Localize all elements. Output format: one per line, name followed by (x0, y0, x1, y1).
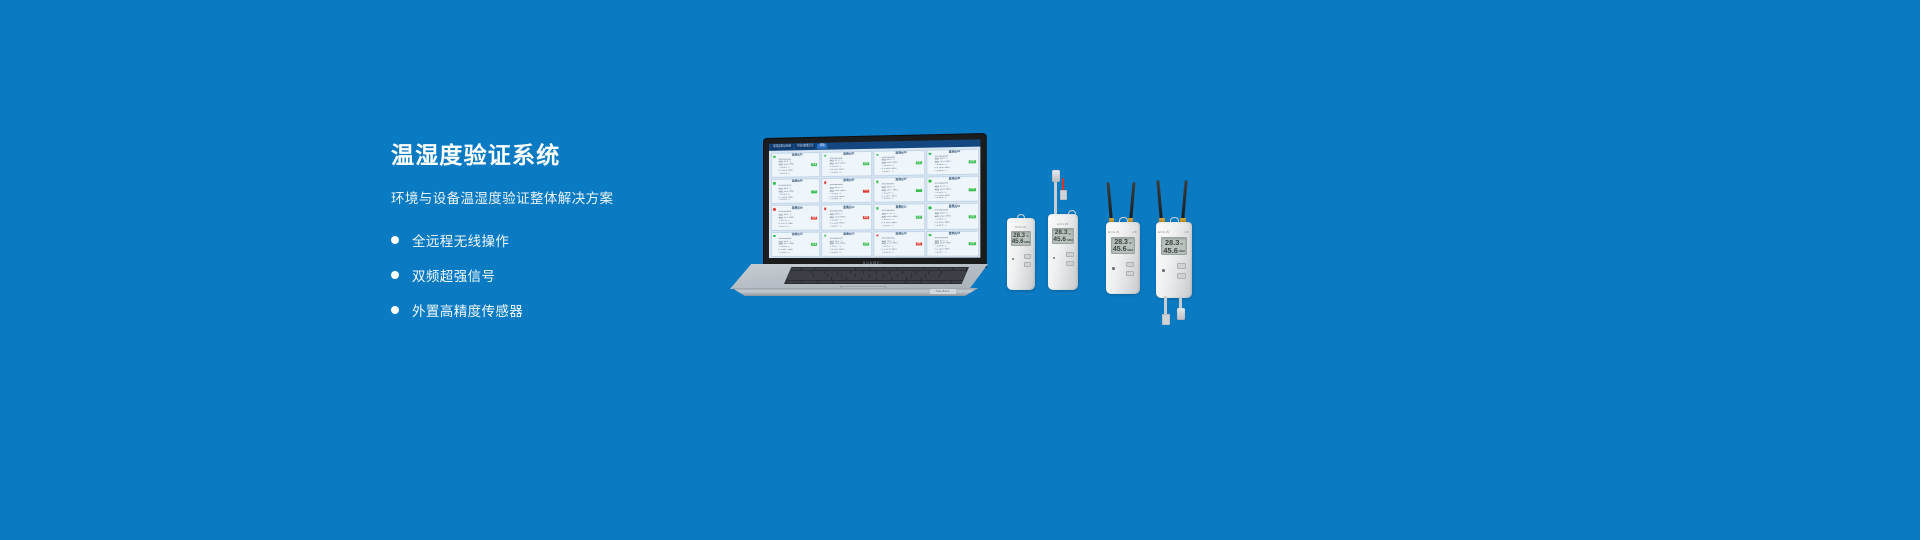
key[interactable] (801, 268, 814, 270)
bullet-dot-icon (391, 236, 399, 244)
table-row[interactable]: 监测点01 SN:2023001 温度 29.8 ℃ 湿度 55.2 %RH正常… (770, 151, 820, 177)
lcd-temperature-unit: ℃ (1068, 234, 1071, 237)
key[interactable] (842, 268, 855, 270)
key[interactable] (815, 268, 828, 270)
device-button-down[interactable] (1177, 273, 1186, 279)
card-field: T 2 24.7 ℃ (933, 252, 975, 255)
lcd-status-label: REC (1162, 254, 1186, 255)
antenna-right-icon (1181, 180, 1188, 222)
table-row[interactable]: 监测点16 SN:2023016 温度 27.1 ℃ 湿度 52.6 %RH正常… (926, 230, 979, 256)
device-wireless-logger-b: ENGIN H8 28.3 ℃ 45.6 %RH REC (1156, 222, 1192, 298)
table-row[interactable]: 监测点13 SN:2023013 温度 29.4 ℃ 湿度 56.7 %RH正常… (770, 231, 820, 257)
key-row (787, 268, 966, 270)
lcd-humidity-value: 45.6 (1113, 246, 1127, 253)
key[interactable] (892, 277, 906, 279)
status-led-icon (1162, 269, 1165, 272)
device-brand-label: ENGIN (1048, 222, 1078, 226)
key[interactable] (939, 268, 952, 270)
table-row[interactable]: 监测点04 SN:2023004 温度 26.4 ℃ 湿度 51.8 %RH正常… (926, 148, 979, 175)
table-row[interactable]: 监测点06 SN:2023006 温度 31.5 ℃ 湿度 58.1 %RH报警… (821, 177, 872, 203)
key-row (787, 281, 966, 283)
lcd-temperature-value: 28.3 (1114, 239, 1128, 246)
laptop-model-label: MateBook (936, 290, 949, 293)
device-lcd-screen: 28.3 ℃ 45.6 %RH REC (1161, 237, 1187, 255)
card-field: T 2 26.1 ℃ (777, 252, 817, 255)
laptop-model-badge: MateBook (930, 289, 956, 294)
status-dot-icon (773, 155, 776, 158)
feature-label: 外置高精度传感器 (412, 300, 523, 320)
key[interactable] (856, 274, 869, 276)
table-row[interactable]: 监测点05 SN:2023005 温度 29.2 ℃ 湿度 56.3 %RH正常… (770, 178, 820, 204)
key[interactable] (851, 271, 863, 273)
status-dot-icon (929, 152, 932, 155)
key[interactable] (847, 277, 861, 279)
key[interactable] (816, 277, 830, 279)
key[interactable] (922, 277, 936, 279)
key[interactable] (921, 281, 935, 283)
lcd-status-label: REC (1053, 243, 1073, 244)
key[interactable] (828, 268, 841, 270)
key[interactable] (916, 271, 928, 273)
key[interactable] (940, 274, 966, 276)
card-field: T 2 25.1 ℃ (828, 171, 869, 175)
device-button-down[interactable] (1024, 262, 1031, 267)
key[interactable] (925, 268, 938, 270)
lcd-temperature-unit: ℃ (1026, 236, 1029, 239)
card-field: T 2 28.2 ℃ (828, 198, 869, 201)
lcd-humidity-unit: %RH (1067, 240, 1073, 243)
lcd-status-label: REC (1012, 245, 1030, 246)
status-dot-icon (773, 208, 776, 211)
lcd-temperature-unit: ℃ (1129, 243, 1132, 246)
device-brand-label: ENGIN (1007, 225, 1035, 229)
status-dot-icon (929, 180, 932, 183)
key[interactable] (812, 271, 824, 273)
monitoring-card-grid: 监测点01 SN:2023001 温度 29.8 ℃ 湿度 55.2 %RH正常… (769, 147, 980, 258)
status-dot-icon (824, 208, 827, 211)
key[interactable] (787, 277, 816, 279)
feature-label: 全远程无线操作 (412, 230, 509, 250)
key[interactable] (898, 274, 911, 276)
card-field: T 2 24.6 ℃ (933, 170, 975, 174)
status-dot-icon (876, 234, 879, 237)
lcd-temperature-row: 28.3 ℃ (1112, 239, 1134, 246)
lcd-humidity-row: 45.6 %RH (1162, 247, 1186, 255)
hero-copy: 温湿度验证系统 环境与设备温湿度验证整体解决方案 全远程无线操作 双频超强信号 … (391, 142, 721, 323)
device-lcd-screen: 28.3 ℃ 45.6 %RH REC (1111, 237, 1135, 254)
laptop-screen: 温湿度验证系统 列表/曲线显示 帮助 监测点01 SN:2023001 温度 2… (769, 139, 980, 258)
key[interactable] (890, 271, 902, 273)
card-field: T 2 25.3 ℃ (880, 225, 921, 228)
spacebar-key[interactable] (833, 281, 905, 283)
page-subtitle: 环境与设备温湿度验证整体解决方案 (391, 187, 721, 207)
key[interactable] (787, 271, 811, 273)
bullet-dot-icon (391, 306, 399, 314)
key[interactable] (884, 274, 897, 276)
table-row[interactable]: 监测点07 SN:2023007 温度 28.8 ℃ 湿度 54.7 %RH正常… (873, 176, 925, 203)
antenna-left-icon (1107, 182, 1113, 222)
status-dot-icon (824, 234, 827, 237)
keyboard[interactable] (784, 267, 969, 284)
device-model-label: H8 (1132, 230, 1137, 234)
key[interactable] (787, 268, 800, 270)
lcd-humidity-unit: %RH (1179, 251, 1185, 254)
key-row (787, 271, 966, 273)
key[interactable] (953, 268, 966, 270)
card-field: T 2 24.8 ℃ (933, 197, 975, 200)
page-title: 温湿度验证系统 (391, 142, 721, 170)
device-brand-label: ENGIN (1108, 230, 1120, 234)
key[interactable] (832, 277, 846, 279)
key-row (787, 277, 966, 279)
card-field: T 2 25.9 ℃ (777, 199, 817, 202)
antenna-left-icon (1156, 180, 1163, 222)
key[interactable] (942, 271, 966, 273)
device-lcd-screen: 28.3 ℃ 45.6 %RH REC (1011, 231, 1031, 246)
device-button-up[interactable] (1024, 254, 1031, 259)
probe-mesh-filter (1060, 190, 1067, 200)
table-row[interactable]: 监测点12 SN:2023012 温度 26.8 ℃ 湿度 51.2 %RH正常… (926, 203, 979, 230)
probe-mesh-filter-left (1162, 314, 1170, 325)
status-dot-icon (773, 235, 776, 238)
device-data-logger-small: ENGIN 28.3 ℃ 45.6 %RH REC (1007, 218, 1035, 290)
table-row[interactable]: 监测点03 SN:2023003 温度 28.1 ℃ 湿度 53.6 %RH正常… (873, 149, 925, 176)
device-model-label: H8 (1184, 230, 1189, 234)
laptop-base: MateBook (716, 264, 994, 299)
list-item: 双频超强信号 (391, 262, 721, 288)
lcd-humidity-unit: %RH (1024, 242, 1030, 245)
key[interactable] (818, 281, 832, 283)
feature-list: 全远程无线操作 双频超强信号 外置高精度传感器 (391, 227, 721, 323)
tab-system[interactable]: 温湿度验证系统 (771, 145, 793, 150)
probe-sensor-tip (1052, 170, 1060, 182)
status-dot-icon (876, 180, 879, 183)
card-field: T 2 24.4 ℃ (933, 224, 975, 227)
key[interactable] (912, 274, 925, 276)
antenna-right-icon (1129, 182, 1135, 222)
table-row[interactable]: 监测点10 SN:2023010 温度 28.9 ℃ 湿度 55.8 %RH报警… (821, 204, 872, 230)
key[interactable] (907, 277, 921, 279)
table-row[interactable]: 监测点15 SN:2023015 温度 30.1 ℃ 湿度 57.9 %RH报警… (873, 231, 925, 257)
status-led-icon (1112, 267, 1115, 270)
key[interactable] (926, 274, 939, 276)
key[interactable] (937, 277, 966, 279)
key[interactable] (787, 274, 813, 276)
device-button-down[interactable] (1126, 271, 1134, 276)
card-field: T 2 26.9 ℃ (880, 252, 921, 255)
laptop-lid: 温湿度验证系统 列表/曲线显示 帮助 监测点01 SN:2023001 温度 2… (764, 134, 986, 267)
card-field: T 2 27.3 ℃ (777, 225, 817, 228)
table-row[interactable]: 监测点14 SN:2023014 温度 28.2 ℃ 湿度 54.3 %RH正常… (821, 231, 872, 257)
tab-list-curve[interactable]: 列表/曲线显示 (795, 144, 815, 149)
key[interactable] (898, 268, 911, 270)
table-row[interactable]: 监测点08 SN:2023008 温度 27.3 ℃ 湿度 52.9 %RH正常… (926, 176, 979, 203)
key[interactable] (929, 271, 941, 273)
probe-sensor-tip-right (1177, 308, 1185, 320)
probe-cable (1054, 180, 1057, 216)
key[interactable] (936, 281, 950, 283)
feature-label: 双频超强信号 (412, 265, 495, 285)
lcd-humidity-row: 45.6 %RH (1112, 246, 1134, 253)
table-row[interactable]: 监测点11 SN:2023011 温度 27.9 ℃ 湿度 53.1 %RH正常… (873, 203, 925, 229)
hero-banner: 温湿度验证系统 环境与设备温湿度验证整体解决方案 全远程无线操作 双频超强信号 … (0, 0, 1920, 540)
device-button-up[interactable] (1126, 262, 1134, 267)
list-item: 全远程无线操作 (391, 227, 721, 253)
key[interactable] (877, 271, 889, 273)
key[interactable] (870, 268, 883, 270)
key[interactable] (877, 277, 891, 279)
lcd-humidity-unit: %RH (1127, 250, 1133, 253)
device-button-down[interactable] (1066, 261, 1074, 266)
key[interactable] (825, 271, 837, 273)
key[interactable] (864, 271, 876, 273)
key[interactable] (884, 268, 897, 270)
card-field: T 2 25.6 ℃ (777, 172, 817, 176)
table-row[interactable]: 监测点09 SN:2023009 温度 30.6 ℃ 湿度 57.4 %RH报警… (770, 205, 820, 231)
key-row (787, 274, 966, 276)
card-field: T 2 25.5 ℃ (828, 252, 869, 255)
key[interactable] (906, 281, 920, 283)
table-row[interactable]: 监测点02 SN:2023002 温度 27.6 ℃ 湿度 52.4 %RH正常… (821, 150, 872, 177)
key[interactable] (952, 281, 966, 283)
key[interactable] (911, 268, 924, 270)
lcd-status-label: REC (1112, 253, 1134, 254)
key[interactable] (842, 274, 855, 276)
key[interactable] (814, 274, 827, 276)
lcd-humidity-value: 45.6 (1163, 247, 1178, 255)
status-dot-icon (929, 234, 932, 237)
device-data-logger-probe: ENGIN 28.3 ℃ 45.6 %RH REC (1048, 214, 1078, 290)
lcd-temperature-unit: ℃ (1180, 244, 1183, 247)
card-field: T 2 25.7 ℃ (880, 170, 921, 174)
key[interactable] (802, 281, 816, 283)
key[interactable] (828, 274, 841, 276)
laptop-illustration: 温湿度验证系统 列表/曲线显示 帮助 监测点01 SN:2023001 温度 2… (716, 139, 994, 299)
status-dot-icon (773, 182, 776, 185)
card-field: T 2 25.2 ℃ (880, 197, 921, 200)
key[interactable] (787, 281, 801, 283)
tab-help[interactable]: 帮助 (818, 144, 827, 149)
key[interactable] (862, 277, 876, 279)
status-dot-icon (876, 207, 879, 210)
status-dot-icon (929, 207, 932, 210)
key[interactable] (903, 271, 915, 273)
list-item: 外置高精度传感器 (391, 297, 721, 323)
status-dot-icon (876, 153, 879, 156)
status-dot-icon (824, 154, 827, 157)
key[interactable] (870, 274, 883, 276)
device-lcd-screen: 28.3 ℃ 45.6 %RH REC (1052, 228, 1074, 244)
card-field: T 2 26.7 ℃ (828, 225, 869, 228)
device-button-up[interactable] (1066, 252, 1074, 257)
device-button-up[interactable] (1177, 263, 1186, 269)
device-wireless-logger-a: ENGIN H8 28.3 ℃ 45.6 %RH REC (1106, 222, 1140, 294)
device-brand-label: ENGIN (1158, 230, 1170, 234)
key[interactable] (856, 268, 869, 270)
monitoring-dashboard: 温湿度验证系统 列表/曲线显示 帮助 监测点01 SN:2023001 温度 2… (769, 139, 980, 258)
status-dot-icon (824, 181, 827, 184)
bullet-dot-icon (391, 271, 399, 279)
key[interactable] (838, 271, 850, 273)
